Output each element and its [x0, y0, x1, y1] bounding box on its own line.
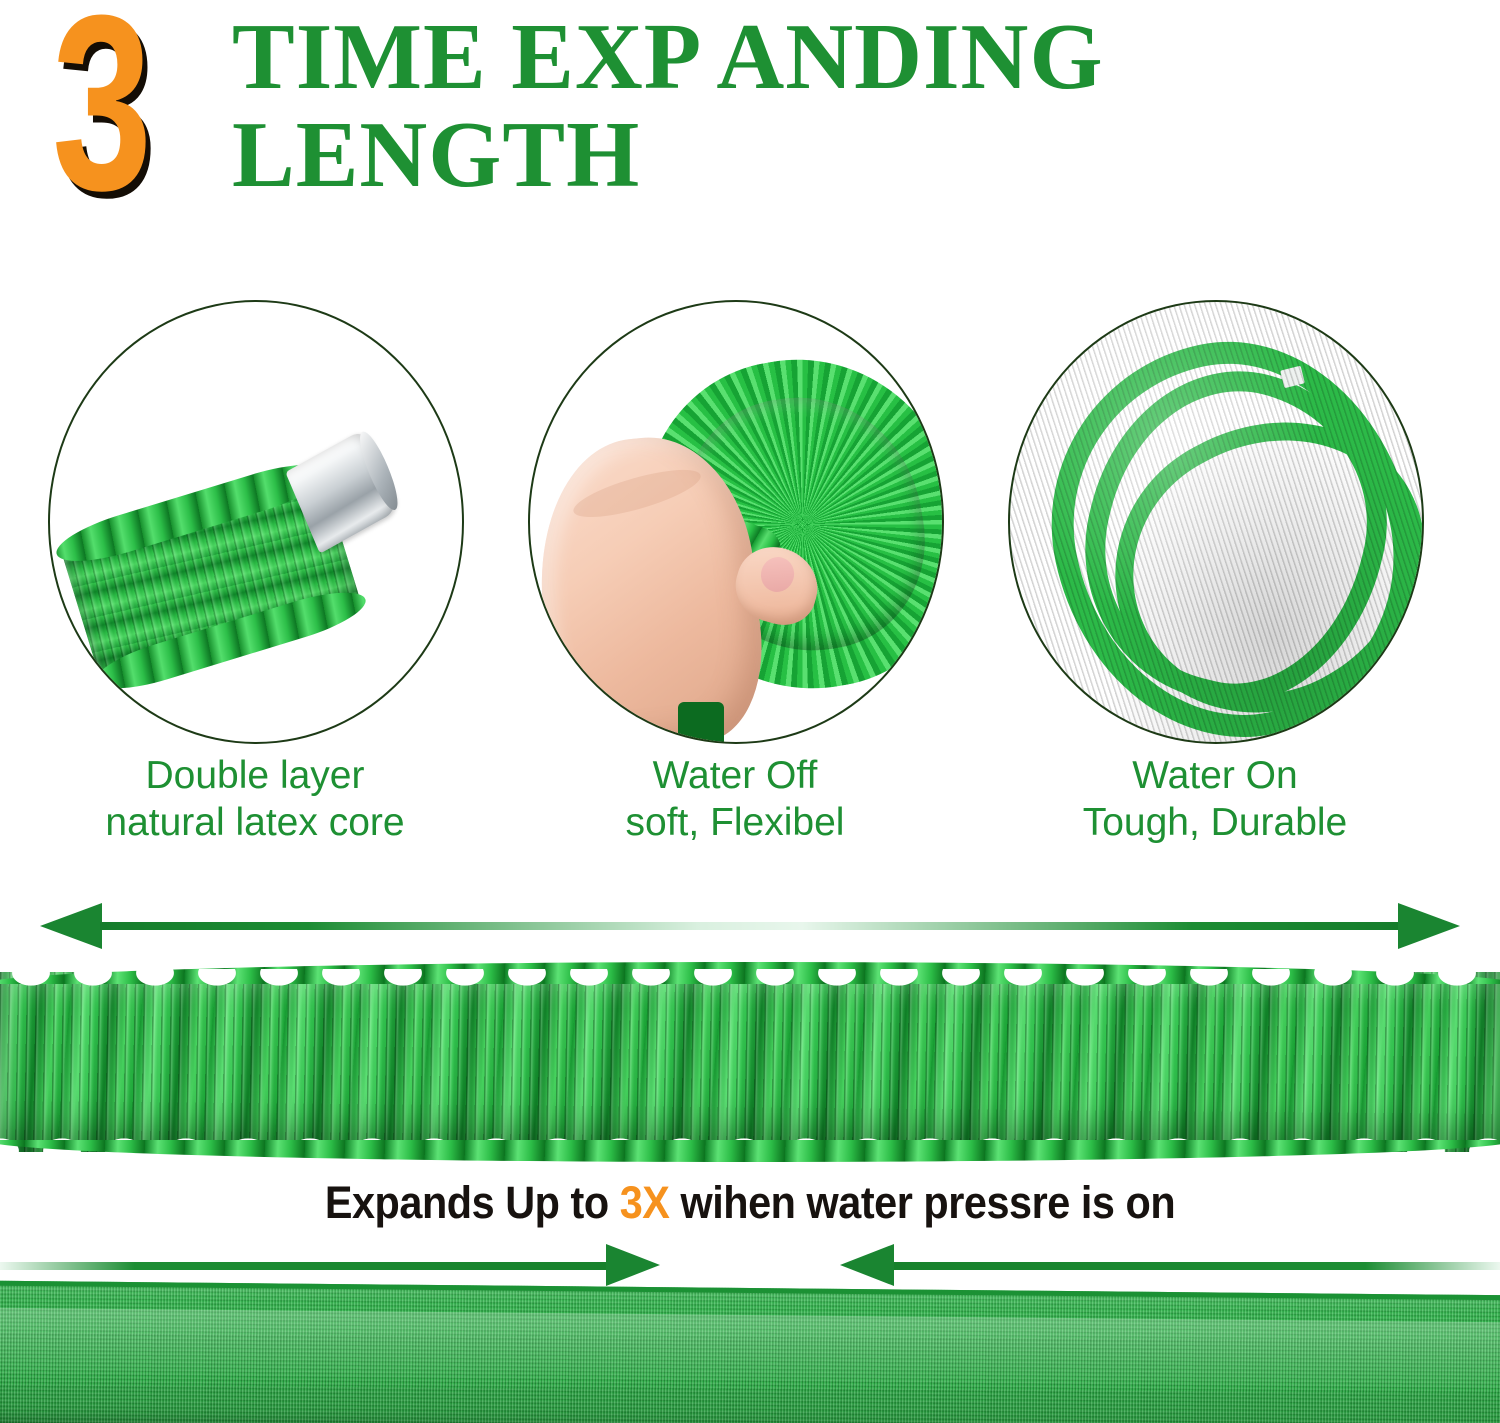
- feature-circle-frame: [528, 300, 944, 744]
- expand-caption-after: wihen water pressre is on: [669, 1177, 1175, 1228]
- headline-line-1: TIME EXP ANDING: [232, 8, 1482, 106]
- header: 3 TIME EXP ANDING LENGTH: [0, 0, 1500, 230]
- feature-item-water-on: Water On Tough, Durable: [1000, 300, 1430, 860]
- feature-caption-line-1: Double layer: [40, 752, 470, 799]
- double-headed-expand-arrow-icon: [40, 895, 1460, 957]
- hose-scallop-top: [0, 969, 1500, 995]
- feature-caption-line-1: Water Off: [520, 752, 950, 799]
- arrow-shaft: [888, 1262, 1500, 1270]
- arrow-head-left-icon: [840, 1244, 894, 1286]
- hose-end-with-metal-connector-icon: [50, 302, 462, 742]
- hose-sheen: [0, 1308, 1500, 1389]
- hose-scallop-bottom: [0, 1129, 1500, 1155]
- feature-caption-line-1: Water On: [1000, 752, 1430, 799]
- headline-line-2: LENGTH: [232, 106, 1482, 204]
- hose-stub: [678, 702, 723, 742]
- expand-caption-highlight: 3X: [620, 1177, 670, 1228]
- hand-holding-collapsed-hose-loop-icon: [530, 302, 942, 742]
- page-title: TIME EXP ANDING LENGTH: [232, 8, 1482, 204]
- feature-caption: Water Off soft, Flexibel: [520, 752, 950, 846]
- contract-arrow-left-icon: [840, 1238, 1500, 1294]
- contracted-flat-hose: [0, 1281, 1500, 1423]
- arrow-head-right-icon: [606, 1244, 660, 1286]
- feature-circle-frame: [48, 300, 464, 744]
- coiled-expanded-hose-icon: [1010, 302, 1422, 742]
- feature-circle-frame: [1008, 300, 1424, 744]
- feature-caption-line-2: soft, Flexibel: [520, 799, 950, 846]
- expand-caption-before: Expands Up to: [325, 1177, 620, 1228]
- expanded-hose-strip: [0, 972, 1500, 1152]
- feature-caption-line-2: Tough, Durable: [1000, 799, 1430, 846]
- feature-item-water-off: Water Off soft, Flexibel: [520, 300, 950, 860]
- feature-caption: Double layer natural latex core: [40, 752, 470, 846]
- feature-circles-row: Double layer natural latex core Wa: [0, 300, 1500, 860]
- arrow-shaft: [100, 922, 1400, 930]
- feature-caption: Water On Tough, Durable: [1000, 752, 1430, 846]
- product-infographic: 3 TIME EXP ANDING LENGTH Double layer na…: [0, 0, 1500, 1423]
- feature-caption-line-2: natural latex core: [40, 799, 470, 846]
- expand-caption: Expands Up to 3X wihen water pressre is …: [60, 1177, 1440, 1229]
- arrow-shaft: [0, 1262, 612, 1270]
- badge-number-3: 3: [52, 0, 149, 228]
- feature-item-double-layer: Double layer natural latex core: [40, 300, 470, 860]
- arrow-head-left-icon: [40, 903, 102, 949]
- arrow-head-right-icon: [1398, 903, 1460, 949]
